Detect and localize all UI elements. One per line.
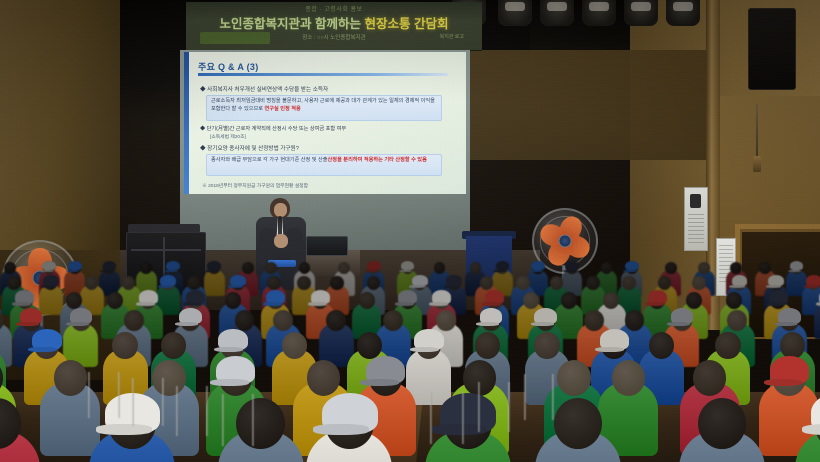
audience-member-head (282, 332, 307, 359)
notice-glyph-icon (690, 194, 701, 208)
chair-frame (88, 372, 90, 418)
audience-member-cap (186, 290, 205, 303)
audience-member-head (534, 332, 559, 359)
audience-member-head (561, 292, 577, 309)
slide-question: ◆ 단기(月별)간 근로자 계약직에 산정시 수당 또는 상여금 포함 여부 (200, 125, 346, 132)
audience-member-head (236, 398, 284, 449)
audience-member-head (235, 310, 255, 331)
stage-light (498, 0, 532, 26)
audience-member-cap (218, 329, 247, 350)
wall-mounted-speaker (748, 8, 796, 90)
audience-member-cap (790, 261, 804, 271)
audience-member-cap (485, 290, 504, 303)
audience-member-head (124, 310, 144, 331)
audience-member-cap (600, 329, 629, 350)
banner-title-highlight: 현장소통 간담회 (364, 17, 448, 31)
chair-frame (524, 374, 526, 420)
audience-member-cap (732, 275, 748, 286)
audience-member-cap (768, 275, 784, 286)
audience-member-head (475, 332, 500, 359)
audience-member-cap (42, 261, 56, 271)
slide-answer: 근로소득자 최저임금대비 명칭을 불문하고, 사용자 근로에 제공과 대가 관계… (206, 95, 442, 121)
audience-member-head (307, 360, 341, 396)
presenter-face (274, 203, 287, 217)
chair-frame (552, 374, 554, 420)
audience-member-head (692, 276, 705, 290)
audience-member-cap (179, 308, 202, 324)
audience-member-cap (20, 308, 43, 324)
audience-member-head (693, 360, 727, 396)
audience-member-head (330, 276, 343, 290)
audience-member-cap (322, 393, 378, 433)
audience-member-head (112, 332, 137, 359)
chair-frame (206, 386, 208, 436)
banner-top-line: 종합 · 고령사회 홍보 (186, 4, 482, 13)
audience-member-head (161, 332, 186, 359)
stage-light (666, 0, 700, 26)
audience-member-cap (534, 308, 557, 324)
audience-member-head (273, 310, 293, 331)
presentation-slide: 주요 Q & A (3) ◆ 사회복지사 처우개선 실비연상액 수당을 받는 소… (184, 52, 466, 194)
chair-frame (222, 394, 224, 446)
audience-member-cap (230, 275, 246, 286)
audience-member-head (780, 332, 805, 359)
audience-member-cap (311, 290, 330, 303)
slide-answer-text: 근로소득자 최저임금대비 명칭을 불문하고, 사용자 근로에 제공과 대가 관계… (211, 98, 435, 112)
stage-light (582, 0, 616, 26)
audience-member-cap (401, 261, 415, 271)
slide-note: [소득세법 제20조] (210, 133, 246, 140)
slide-title: 주요 Q & A (3) (198, 60, 259, 73)
slide-answer-text: 종사자와 배급 부담으로 각 가구 현대기준 산정 및 산출 (211, 157, 328, 163)
audience-member-head (586, 276, 599, 290)
audience-member-head (436, 310, 456, 331)
audience-member-cap (139, 290, 158, 303)
audience-member-cap (160, 275, 176, 286)
chair-frame (162, 378, 164, 426)
audience-member-cap (68, 261, 82, 271)
audience-member-cap (15, 290, 34, 303)
slide-answer: 종사자와 배급 부담으로 각 가구 현대기준 산정 및 산출산정을 분리하여 적… (206, 154, 442, 176)
audience-member-head (152, 360, 186, 396)
audience-member-cap (769, 290, 788, 303)
audience-member-cap (414, 329, 443, 350)
chair-frame (430, 392, 432, 444)
audience-member-cap (496, 261, 510, 271)
audience-member-cap (366, 356, 405, 384)
audience-member-cap (671, 308, 694, 324)
audience-member-head (326, 310, 346, 331)
audience-member-cap (166, 261, 180, 271)
chair-frame (176, 386, 178, 436)
audience-member-cap (440, 393, 496, 433)
audience-member-cap (70, 308, 93, 324)
audience-member-head (7, 276, 20, 290)
slide-title-rule (198, 73, 448, 76)
audience-member-head (554, 398, 602, 449)
audience-member-cap (446, 275, 462, 286)
audience-member-head (625, 310, 645, 331)
wall-notice-poster (684, 187, 708, 251)
event-banner: 종합 · 고령사회 홍보 노인종합복지관과 함께하는 현장소통 간담회 장소 :… (186, 2, 482, 51)
chair-frame (478, 382, 480, 432)
audience-member-cap (625, 261, 639, 271)
back-wall-upper (460, 50, 720, 160)
slide-accent-bar (184, 52, 189, 194)
audience-member-head (187, 276, 200, 290)
audience-member-head (242, 262, 254, 274)
audience-member-head (557, 360, 591, 396)
audience-member-cap (216, 356, 255, 384)
audience-member-head (267, 276, 280, 290)
audience-member-cap (412, 275, 428, 286)
audience-member-head (516, 276, 529, 290)
stage-light (624, 0, 658, 26)
banner-main-title: 노인종합복지관과 함께하는 현장소통 간담회 (186, 13, 482, 32)
audience-member-head (359, 292, 375, 309)
audience-member-cap (367, 261, 381, 271)
slide-answer-highlight: 산정을 분리하여 적용하는 기타 산정할 수 있음 (328, 157, 427, 163)
auditorium-photo: 종합 · 고령사회 홍보 노인종합복지관과 함께하는 현장소통 간담회 장소 :… (0, 0, 820, 462)
audience-member-head (584, 310, 604, 331)
audience-member-cap (778, 308, 801, 324)
chair-frame (462, 392, 464, 444)
audience-member-head (612, 360, 646, 396)
slide-answer-highlight: 연구실 인정 적용 (265, 106, 301, 112)
chair-frame (508, 382, 510, 432)
slide-question: ◆ 장기요양 종사자에 및 산정방법 가구원? (200, 144, 299, 152)
audience-member-cap (43, 275, 59, 286)
presentation-laptop[interactable] (306, 236, 348, 256)
audience-member-cap (565, 261, 579, 271)
audience-member-cap (432, 290, 451, 303)
slide-footer-note: ※ 2018년부터 정부지원금 가구원의 업무현황 설정함 (202, 182, 308, 189)
fan-hub (559, 235, 572, 248)
audience-member-cap (531, 261, 545, 271)
right-wall-panel (718, 96, 820, 236)
audience-member-head (715, 332, 740, 359)
audience-member-cap (770, 356, 809, 384)
audience-member-head (649, 332, 674, 359)
banner-logo-right: 복지관 로고 (440, 33, 464, 40)
audience-member-head (297, 276, 310, 290)
audience-member-head (622, 276, 635, 290)
chair-frame (132, 378, 134, 426)
audience-member-cap (648, 290, 667, 303)
banner-logo-left (200, 32, 270, 44)
hanging-cable (756, 104, 758, 162)
chair-frame (252, 394, 254, 446)
audience-member-cap (398, 290, 417, 303)
audience-member-head (54, 360, 88, 396)
audience-member-head (727, 310, 747, 331)
audience-member-head (265, 262, 277, 274)
audience-member-head (357, 332, 382, 359)
stage-light (540, 0, 574, 26)
banner-title-plain: 노인종합복지관과 함께하는 (220, 17, 365, 31)
audience-member-head (698, 398, 746, 449)
presenter-hands (274, 234, 288, 248)
audience-member-cap (103, 261, 117, 271)
slide-question: ◆ 사회복지사 처우개선 실비연상액 수당을 받는 소득자 (200, 85, 328, 93)
audience-member-cap (32, 329, 61, 350)
audience-member-cap (207, 261, 221, 271)
audience-member-head (383, 310, 403, 331)
chair-frame (118, 372, 120, 418)
audience-member-cap (480, 308, 503, 324)
audience-member-cap (806, 275, 820, 286)
audience-member-cap (266, 290, 285, 303)
notice-text-lines (688, 214, 704, 244)
